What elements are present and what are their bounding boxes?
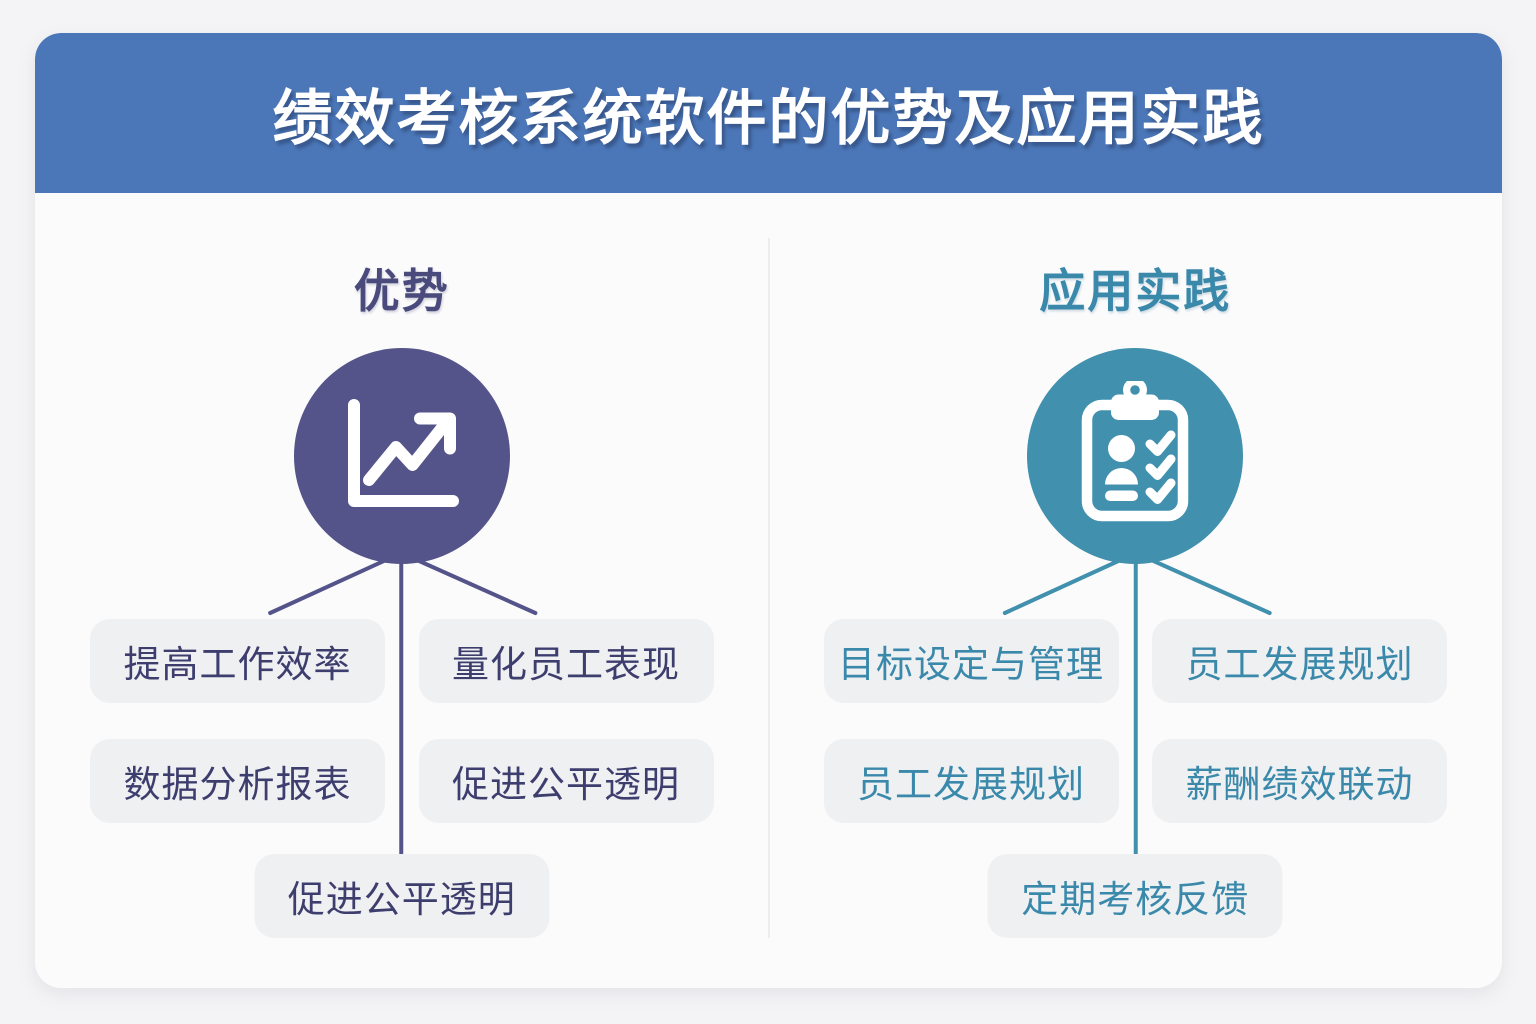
pill-advantages-1[interactable]: 提高工作效率 bbox=[90, 619, 385, 703]
header-banner: 绩效考核系统软件的优势及应用实践 bbox=[35, 33, 1502, 193]
pill-practice-1[interactable]: 目标设定与管理 bbox=[824, 619, 1119, 703]
pill-advantages-4[interactable]: 促进公平透明 bbox=[419, 739, 714, 823]
pill-advantages-5[interactable]: 促进公平透明 bbox=[254, 854, 549, 938]
pill-advantages-3[interactable]: 数据分析报表 bbox=[90, 739, 385, 823]
column-advantages: 优势 提高工作效率 量化员工表现 数据分析报表 促进公平透明 促进公平透明 bbox=[35, 193, 769, 988]
pill-advantages-2[interactable]: 量化员工表现 bbox=[419, 619, 714, 703]
pill-practice-3[interactable]: 员工发展规划 bbox=[824, 739, 1119, 823]
pill-practice-5[interactable]: 定期考核反馈 bbox=[988, 854, 1283, 938]
page-title: 绩效考核系统软件的优势及应用实践 bbox=[273, 70, 1265, 157]
pill-practice-4[interactable]: 薪酬绩效联动 bbox=[1152, 739, 1447, 823]
clipboard-checklist-person-icon bbox=[1060, 381, 1210, 531]
infographic-card: 绩效考核系统软件的优势及应用实践 优势 提高工作效率 量化员 bbox=[35, 33, 1502, 988]
icon-circle-advantages bbox=[294, 348, 510, 564]
pill-practice-2[interactable]: 员工发展规划 bbox=[1152, 619, 1447, 703]
column-heading-practice: 应用实践 bbox=[769, 255, 1503, 321]
column-heading-advantages: 优势 bbox=[35, 255, 769, 321]
column-practice: 应用实践 bbox=[769, 193, 1503, 988]
icon-circle-practice bbox=[1027, 348, 1243, 564]
column-divider bbox=[768, 238, 770, 938]
trending-up-chart-icon bbox=[327, 381, 477, 531]
